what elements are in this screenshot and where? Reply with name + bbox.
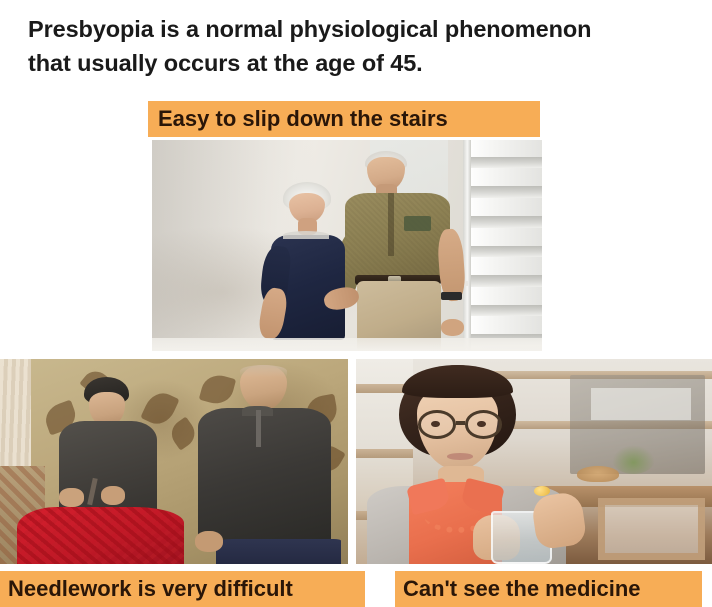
photo-stairs-scene xyxy=(152,140,542,351)
man-wristwatch xyxy=(441,292,461,300)
stair-step xyxy=(468,246,542,258)
photo-medicine-scene xyxy=(356,359,712,564)
eyeglasses-bridge xyxy=(456,421,465,425)
photo-stairs xyxy=(152,140,542,351)
woman-left-hand xyxy=(59,488,83,506)
kitchen-picture-frame xyxy=(598,498,705,560)
page-title-line-2: that usually occurs at the age of 45. xyxy=(28,46,688,80)
man-shirt xyxy=(345,193,450,280)
woman-right-hand xyxy=(101,486,125,504)
kitchen-window xyxy=(591,388,691,421)
photo-needlework-scene xyxy=(0,359,348,564)
man-shirt-placket xyxy=(388,193,394,256)
photo-medicine xyxy=(356,359,712,564)
man-right-hand xyxy=(441,319,464,336)
caption-label-stairs: Easy to slip down the stairs xyxy=(148,108,448,130)
page-title-line-1: Presbyopia is a normal physiological phe… xyxy=(28,12,688,46)
man-shirt-pocket xyxy=(404,216,431,231)
stair-rail-post xyxy=(463,140,471,351)
man-sweater-zip xyxy=(256,410,261,447)
red-knitted-yarn xyxy=(17,507,184,564)
caption-label-medicine: Can't see the medicine xyxy=(395,578,641,600)
stair-step xyxy=(468,186,542,198)
woman-collar xyxy=(283,231,330,239)
stair-step xyxy=(468,275,542,287)
kitchen-fruit-bowl xyxy=(577,466,620,482)
caption-label-needlework: Needlework is very difficult xyxy=(0,578,293,600)
caption-banner-medicine: Can't see the medicine xyxy=(395,571,702,607)
page-title: Presbyopia is a normal physiological phe… xyxy=(28,12,688,80)
woman-lips xyxy=(447,453,474,460)
foreground-ledge xyxy=(152,338,542,351)
kitchen-plant xyxy=(612,445,655,474)
stair-step xyxy=(468,157,542,169)
photo-needlework xyxy=(0,359,348,564)
man-hand xyxy=(195,531,223,552)
caption-banner-needlework: Needlework is very difficult xyxy=(0,571,365,607)
stair-step xyxy=(468,305,542,317)
man-sweater xyxy=(198,408,330,543)
man-trousers xyxy=(216,539,341,564)
wall-stripe xyxy=(356,449,413,458)
caption-banner-stairs: Easy to slip down the stairs xyxy=(148,101,540,137)
man-hairline xyxy=(240,365,287,377)
stair-step xyxy=(468,216,542,228)
